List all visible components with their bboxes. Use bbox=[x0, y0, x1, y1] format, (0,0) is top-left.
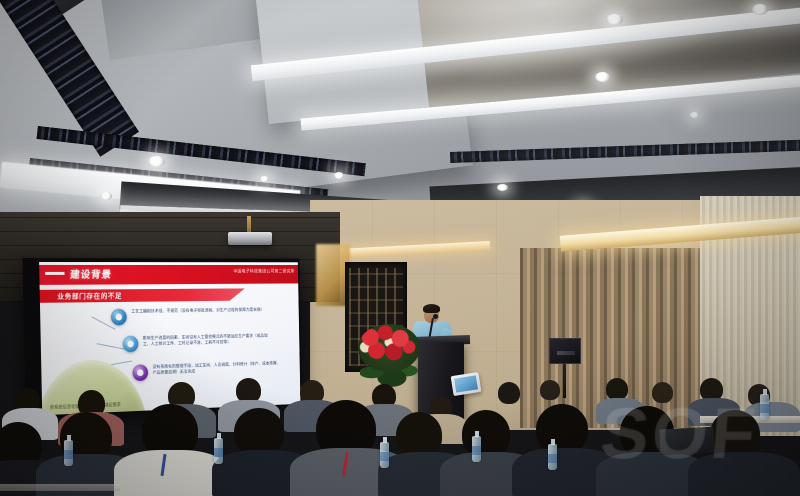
audience-head bbox=[606, 378, 628, 400]
downlight-icon bbox=[497, 184, 508, 191]
ring-bullet-blue-icon bbox=[111, 309, 127, 326]
audience-area bbox=[0, 356, 800, 496]
water-bottle bbox=[380, 442, 389, 468]
slide-connector-line bbox=[97, 343, 125, 349]
downlight-icon bbox=[752, 4, 768, 15]
slide-bullet-1: 工艺工编制技术低、不规范（没有电子审批流程、对生产过程的保障力度有限） bbox=[111, 307, 265, 326]
audience-head-front bbox=[710, 410, 760, 458]
downlight-icon bbox=[606, 14, 623, 25]
water-bottle bbox=[214, 438, 223, 464]
ring-bullet-blue-icon bbox=[122, 336, 138, 353]
downlight-icon bbox=[334, 172, 344, 179]
slide-subheader-label: 业务部门存在的不足 bbox=[57, 291, 122, 301]
slide-bullet-2-text: 影响生产进度的因素、车间没有人工管控模式的不能适应生产要求（成品加工、人工统计工… bbox=[143, 333, 275, 348]
water-bottle bbox=[548, 444, 557, 470]
conference-photo: 建设背景 中国电子科技集团公司第二研究所 业务部门存在的不足 工艺工编制技术低、… bbox=[0, 0, 800, 496]
slide-bullet-1-text: 工艺工编制技术低、不规范（没有电子审批流程、对生产过程的保障力度有限） bbox=[131, 307, 264, 315]
slide-header-dash-icon bbox=[45, 272, 64, 275]
slide-header-organization: 中国电子科技集团公司第二研究所 bbox=[233, 269, 294, 275]
audience-head bbox=[652, 382, 673, 403]
downlight-icon bbox=[260, 176, 269, 182]
downlight-icon bbox=[690, 112, 699, 118]
downlight-icon bbox=[148, 156, 165, 167]
audience-head-front bbox=[234, 408, 284, 456]
microphone-head-icon bbox=[433, 314, 438, 319]
audience-shoulders-front bbox=[688, 452, 800, 496]
tablet-camera bbox=[451, 372, 482, 396]
water-bottle bbox=[64, 440, 73, 466]
slide-bullet-2: 影响生产进度的因素、车间没有人工管控模式的不能适应生产要求（成品加工、人工统计工… bbox=[122, 333, 275, 353]
audience-head-front bbox=[536, 404, 588, 454]
audience-shoulders-front bbox=[114, 450, 228, 496]
downlight-icon bbox=[595, 72, 610, 82]
water-bottle bbox=[472, 436, 481, 462]
presenter-hair bbox=[423, 304, 440, 313]
water-bottle bbox=[760, 394, 769, 420]
slide-header-title: 建设背景 bbox=[70, 266, 113, 281]
ceiling-projector bbox=[228, 232, 272, 245]
downlight-icon bbox=[100, 192, 112, 200]
table-edge bbox=[0, 484, 120, 491]
audience-head bbox=[498, 382, 520, 404]
audience-head bbox=[540, 380, 560, 400]
laptop bbox=[659, 427, 714, 456]
audience-head-front bbox=[462, 410, 510, 458]
